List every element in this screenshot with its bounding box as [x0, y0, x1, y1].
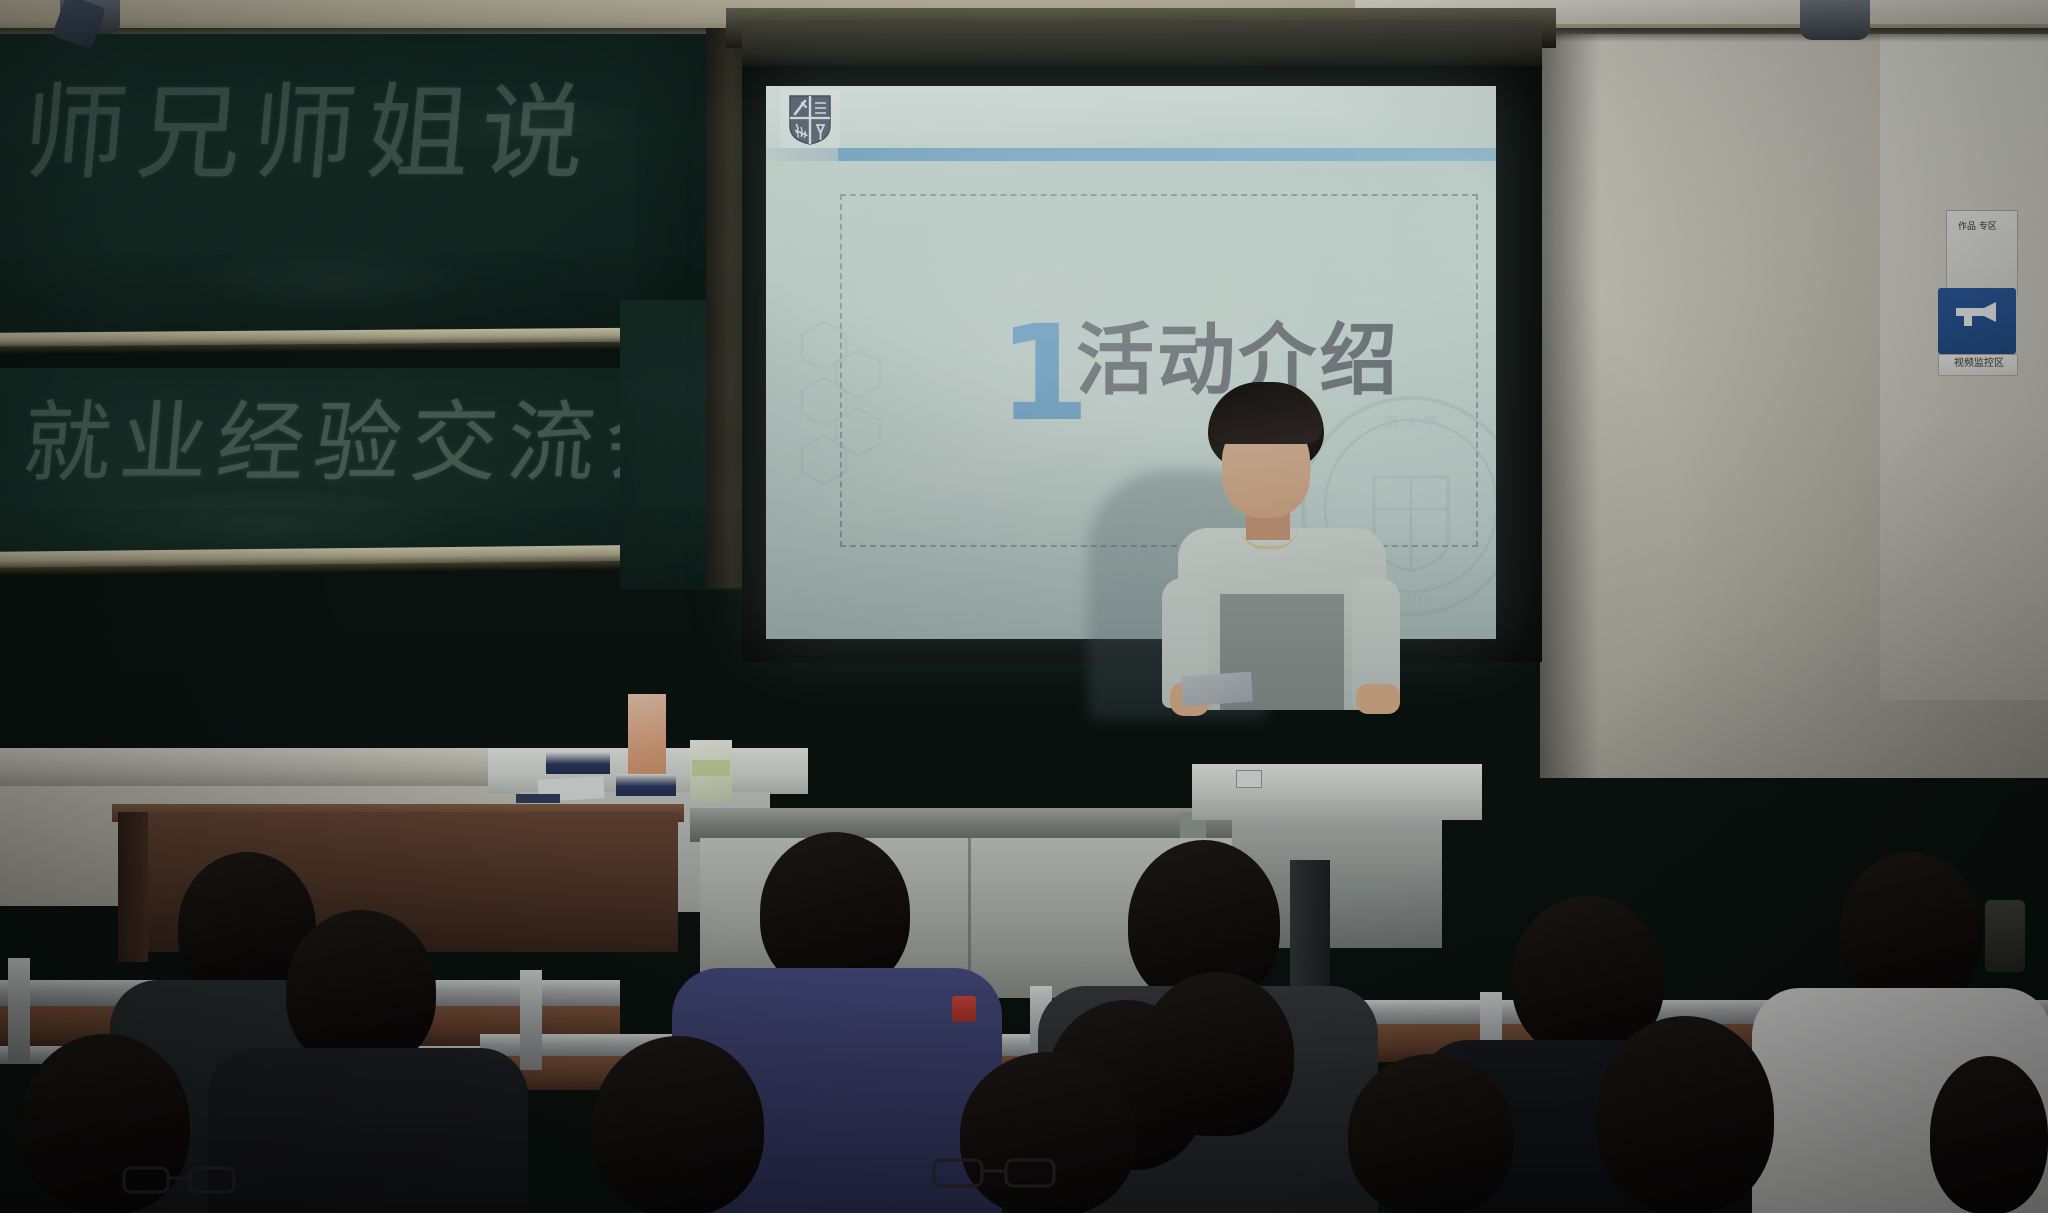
audience-body	[208, 1048, 528, 1213]
ceiling-mount-right-icon	[1800, 0, 1870, 40]
screen-roller-bar	[742, 20, 1542, 66]
audience-head	[1840, 852, 1982, 1008]
eyeglasses-icon	[120, 1160, 240, 1200]
slide-accent-bar	[838, 148, 1496, 161]
product-box-white-band	[692, 760, 730, 776]
hexagon-decoration-icon	[784, 316, 914, 506]
right-wall-shadow	[1540, 18, 1600, 778]
wood-desk-side	[118, 812, 148, 962]
audience-head	[1930, 1056, 2048, 1213]
audience-head	[1596, 1016, 1774, 1213]
presenter	[1148, 382, 1418, 712]
university-crest-logo	[788, 94, 832, 146]
lecture-hall-scene: 师兄师姐说 就业经验交流会	[0, 0, 2048, 1213]
slide-bar-left-cap	[766, 148, 838, 161]
bench-post-1	[8, 958, 30, 1062]
presenter-hair-fringe	[1210, 398, 1322, 444]
eyeglasses-icon	[930, 1152, 1060, 1192]
marker-pen	[516, 794, 560, 803]
product-box-tall	[628, 694, 666, 786]
camera-monitor-sign-text: 视频监控区	[1944, 358, 2014, 370]
chalkboard-text-line-2: 就业经验交流会	[18, 372, 707, 499]
audience-head	[1140, 972, 1294, 1136]
slide-header-band	[766, 86, 1496, 148]
cctv-camera-icon	[1950, 296, 2004, 332]
red-cup	[952, 996, 976, 1022]
chalkboard-text-line-1: 师兄师姐说	[17, 48, 602, 199]
chalk-box-2	[616, 774, 676, 796]
chalk-box-1	[546, 752, 610, 774]
audience-head	[592, 1036, 764, 1213]
lectern-leg	[1290, 860, 1330, 990]
bench-post-3	[520, 970, 542, 1070]
audience-head	[286, 910, 436, 1070]
notice-sign-upper-text: 作品 专区	[1958, 222, 2010, 232]
presenter-hand-right	[1356, 684, 1400, 714]
presenter-note-card	[1181, 672, 1253, 707]
lectern-badge	[1236, 770, 1262, 788]
wall-speaker	[1985, 900, 2025, 972]
audience-head	[1348, 1054, 1514, 1213]
